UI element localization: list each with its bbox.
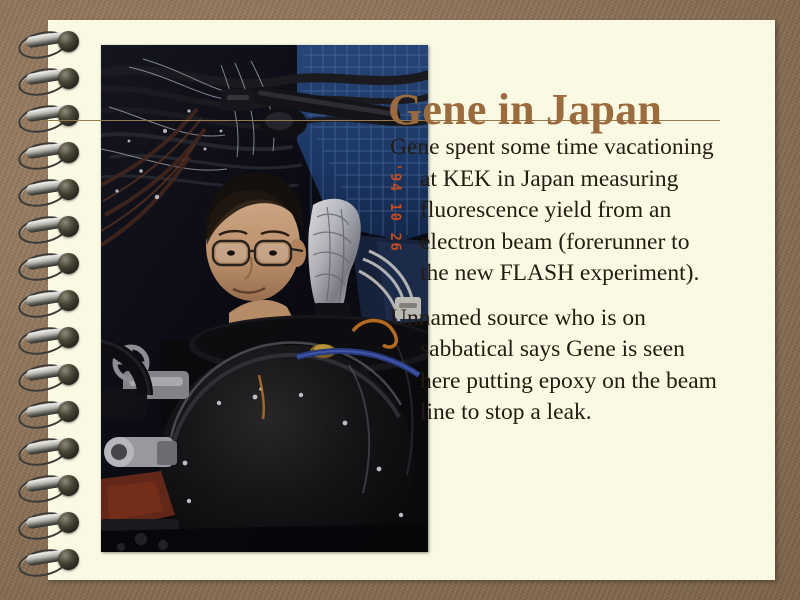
slide-body: Gene spent some time vacationing at KEK … — [390, 132, 723, 442]
slide-title: Gene in Japan — [388, 87, 728, 133]
photo-artwork: '94 10 26 — [101, 45, 428, 552]
slide-photo: '94 10 26 — [101, 45, 428, 552]
slide-canvas: '94 10 26 — [0, 0, 800, 600]
body-paragraph-1: Gene spent some time vacationing at KEK … — [390, 132, 723, 290]
body-paragraph-2: Unnamed source who is on sabbatical says… — [390, 303, 723, 429]
